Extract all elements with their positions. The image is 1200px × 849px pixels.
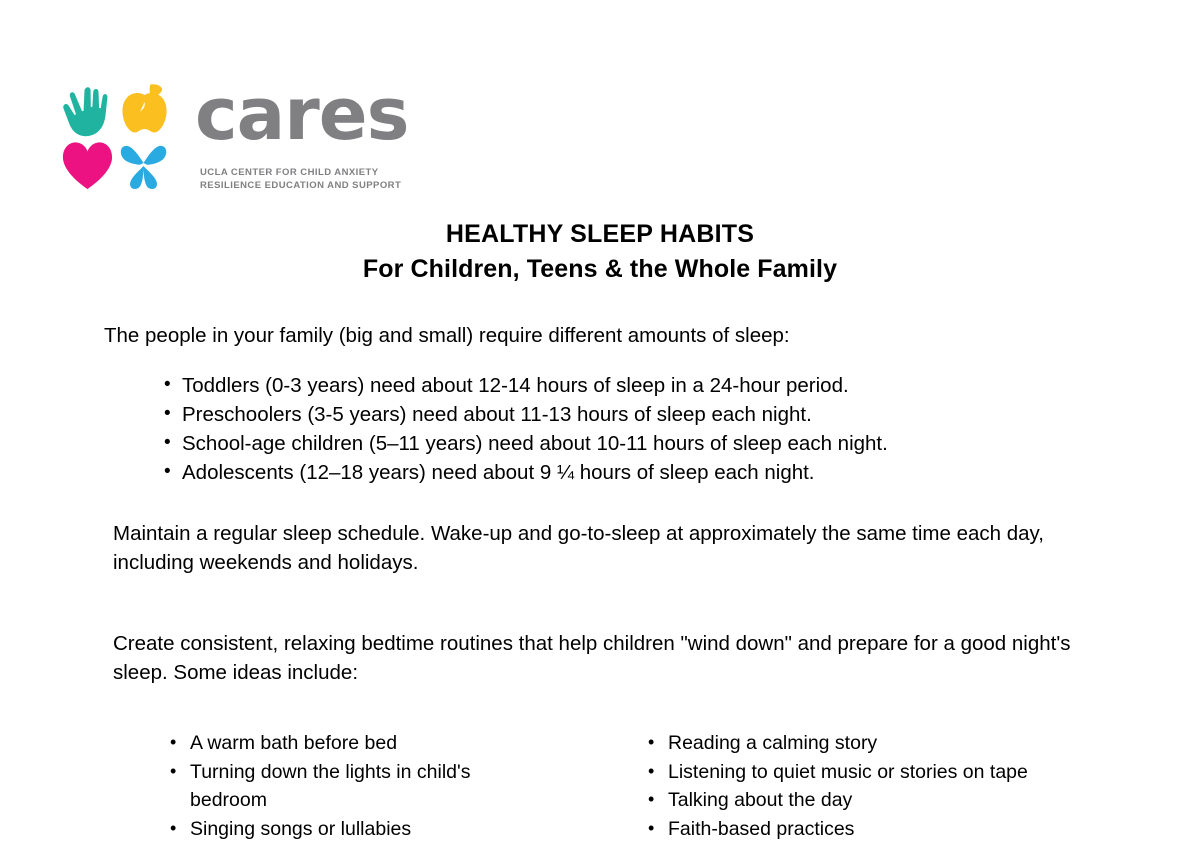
list-item: A warm bath before bed [190, 729, 520, 758]
list-item: Adolescents (12–18 years) need about 9 ¼… [182, 458, 1200, 487]
apple-icon [117, 82, 172, 136]
cares-wordmark: cares [195, 78, 408, 150]
butterfly-icon [116, 138, 171, 192]
list-item: Singing songs or lullabies [190, 815, 520, 844]
list-item: Preschoolers (3-5 years) need about 11-1… [182, 400, 1200, 429]
document-body: The people in your family (big and small… [0, 300, 1200, 849]
bedtime-routines-paragraph: Create consistent, relaxing bedtime rout… [113, 629, 1115, 687]
logo-icon-grid [60, 82, 180, 194]
sleep-schedule-paragraph: Maintain a regular sleep schedule. Wake-… [113, 519, 1115, 577]
document-title-block: HEALTHY SLEEP HABITS For Children, Teens… [0, 218, 1200, 287]
page-title: HEALTHY SLEEP HABITS [0, 218, 1200, 251]
cares-logo: cares UCLA CENTER FOR CHILD ANXIETY RESI… [60, 82, 440, 200]
bedtime-ideas-left-column: A warm bath before bed Turning down the … [190, 729, 520, 843]
bedtime-ideas-right-column: Reading a calming story Listening to qui… [668, 729, 1108, 843]
list-item: Listening to quiet music or stories on t… [668, 758, 1108, 787]
list-item: Reading a calming story [668, 729, 1108, 758]
list-item: School-age children (5–11 years) need ab… [182, 429, 1200, 458]
logo-subtitle-line-2: RESILIENCE EDUCATION AND SUPPORT [200, 179, 401, 192]
hand-icon [60, 84, 115, 138]
list-item: Faith-based practices [668, 815, 1108, 844]
bedtime-ideas-columns: A warm bath before bed Turning down the … [0, 729, 1200, 849]
page-subtitle: For Children, Teens & the Whole Family [0, 251, 1200, 287]
logo-subtitle: UCLA CENTER FOR CHILD ANXIETY RESILIENCE… [200, 166, 401, 192]
list-item: Turning down the lights in child's bedro… [190, 758, 520, 815]
age-group-sleep-list: Toddlers (0-3 years) need about 12-14 ho… [0, 371, 1200, 487]
logo-subtitle-line-1: UCLA CENTER FOR CHILD ANXIETY [200, 166, 401, 179]
list-item: Toddlers (0-3 years) need about 12-14 ho… [182, 371, 1200, 400]
intro-paragraph: The people in your family (big and small… [104, 321, 1200, 351]
list-item: Talking about the day [668, 786, 1108, 815]
heart-icon [60, 138, 115, 192]
